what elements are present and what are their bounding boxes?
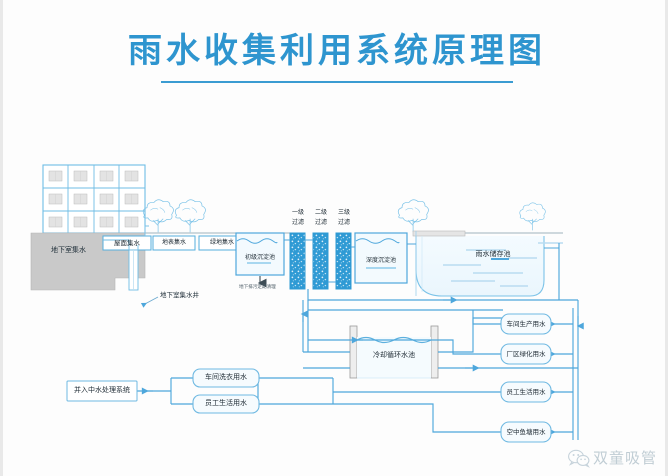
label-filter-stage-3-line1: 三级 <box>332 209 356 218</box>
page-canvas: 雨水收集利用系统原理图 <box>0 0 668 476</box>
label-workshop-laundry-water: 车间洗衣用水 <box>193 369 259 387</box>
label-workshop-production-water: 车间生产用水 <box>501 314 551 334</box>
label-filter-stage-2-line1: 二级 <box>309 209 333 218</box>
label-greenland-collection: 绿地集水 <box>199 236 245 250</box>
tree-icons-right <box>398 200 545 233</box>
filter-columns <box>284 233 351 289</box>
label-primary-settling-tank: 初级沉淀池 <box>236 252 284 264</box>
label-reclaimed-water-system: 并入中水处理系统 <box>67 381 137 401</box>
label-filter-stage-1-line2: 过滤 <box>286 219 310 228</box>
label-filter-stage-3-line2: 过滤 <box>332 219 356 228</box>
rainwater-storage-tank-graphic <box>407 231 563 296</box>
well-pointer-arrow <box>143 297 158 305</box>
label-aerial-fishpond-water: 空中鱼塘用水 <box>501 422 551 442</box>
label-surface-collection: 地表集水 <box>153 236 195 250</box>
watermark-text: 双童吸管 <box>593 447 657 468</box>
watermark: 双童吸管 <box>568 447 657 468</box>
label-filter-stage-1-line1: 一级 <box>286 209 310 218</box>
label-staff-domestic-water-2: 员工生活用水 <box>193 395 259 413</box>
label-staff-domestic-water: 员工生活用水 <box>501 382 551 402</box>
label-plant-greening-water: 厂区绿化用水 <box>501 344 551 364</box>
wechat-icon <box>568 448 590 468</box>
label-filter-stage-2-line2: 过滤 <box>309 219 333 228</box>
label-cooling-circulation-tank: 冷却循环水池 <box>357 350 431 362</box>
tree-icons-left <box>143 200 205 233</box>
label-basement-sump-well: 地下室集水井 <box>160 292 199 299</box>
building-graphic <box>43 165 145 233</box>
label-basement-collection: 地下室集水 <box>51 247 86 254</box>
label-sludge-discharge-note: 地下排污定期清理 <box>239 286 276 291</box>
label-deep-settling-tank: 深度沉淀池 <box>355 255 407 267</box>
label-rainwater-storage-tank: 雨水储存池 <box>463 249 523 261</box>
system-schematic-diagram: 地下室集水 屋面集水 地表集水 绿地集水 地下室集水井 初级沉淀池 深度沉淀池 … <box>3 0 668 476</box>
label-roof-collection: 屋面集水 <box>103 236 151 250</box>
